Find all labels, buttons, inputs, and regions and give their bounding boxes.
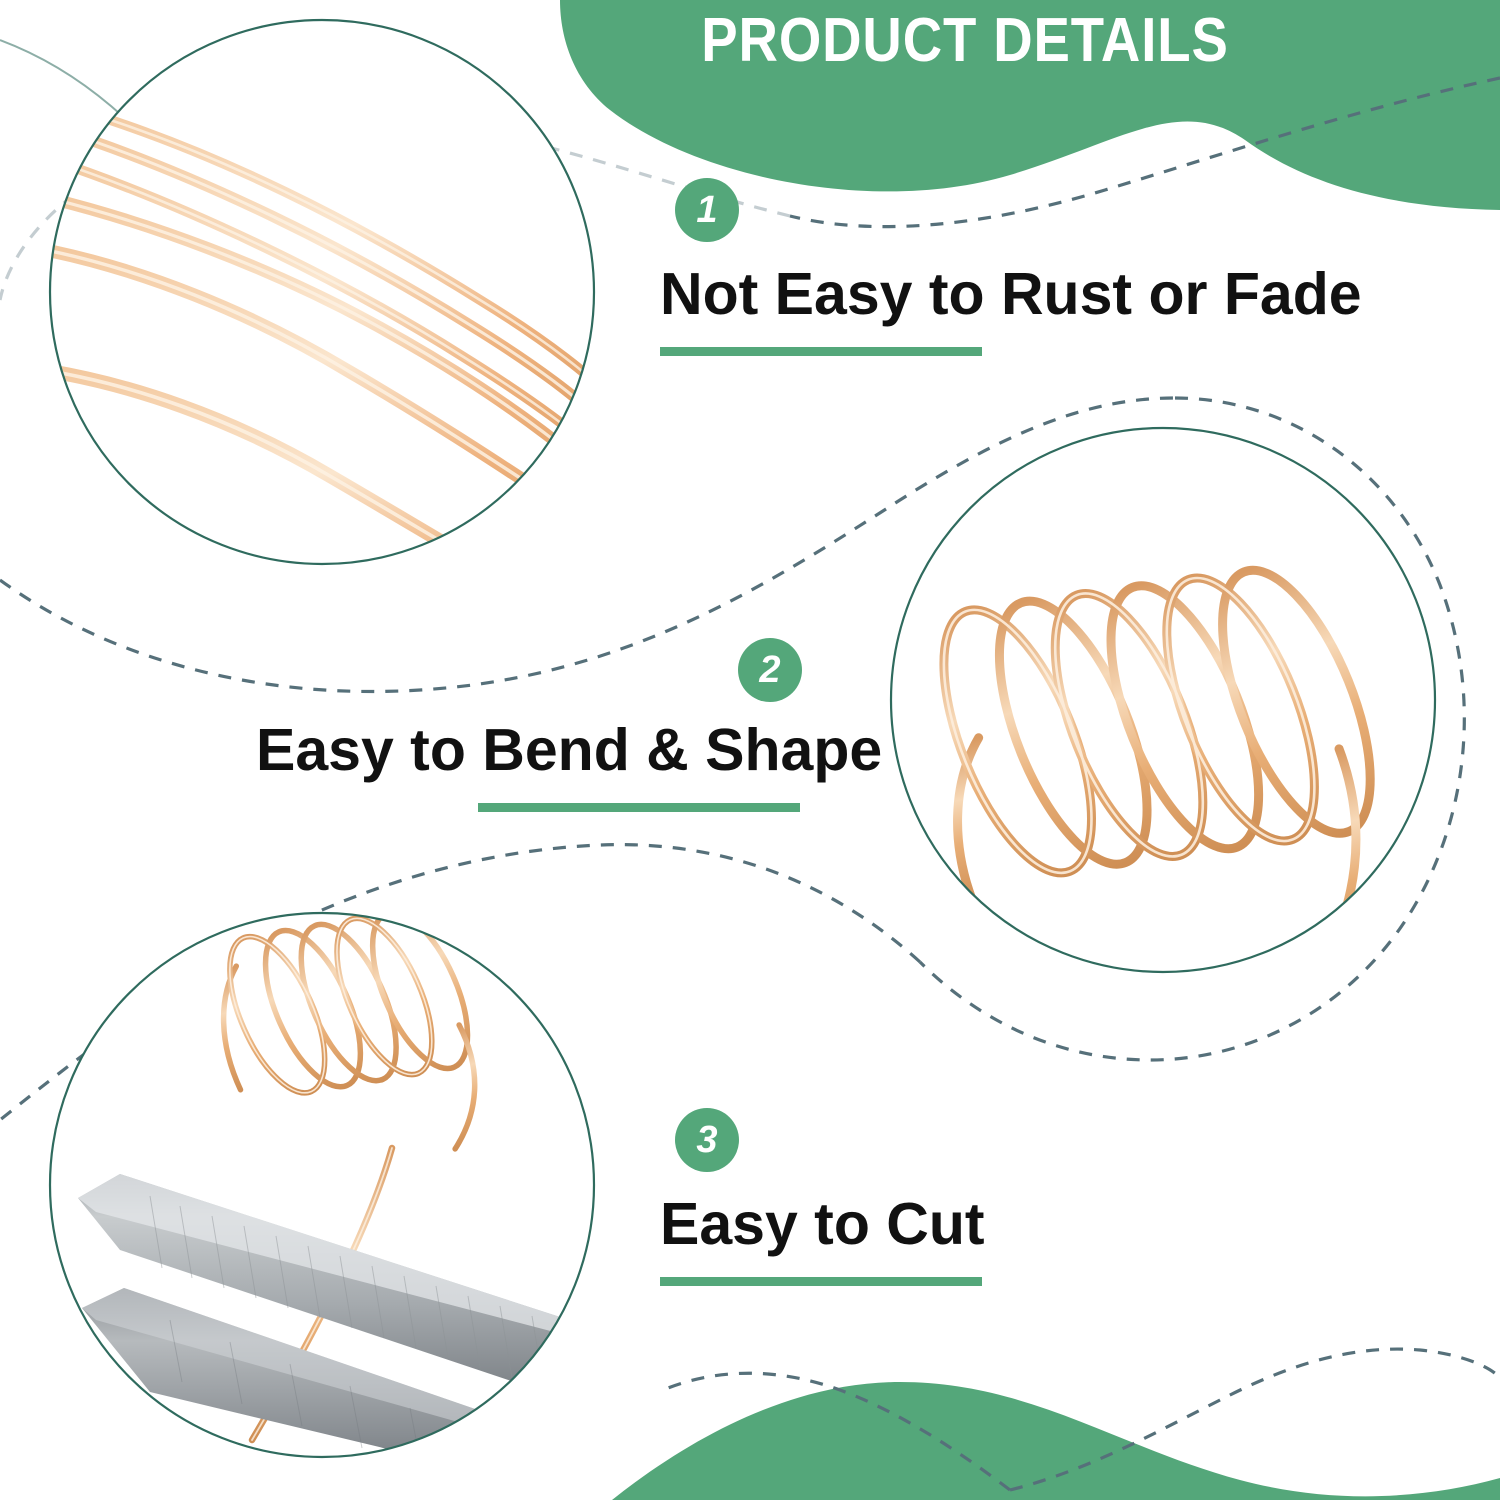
number-two-badge-icon: 2 (738, 638, 802, 702)
feature-underline-2 (478, 803, 800, 812)
feature-title-3: Easy to Cut (660, 1192, 985, 1257)
number-one-badge-icon: 1 (675, 178, 739, 242)
content-layer: PRODUCT DETAILS 1 Not Easy to Rust or Fa… (0, 0, 1500, 1500)
product-details-infographic: PRODUCT DETAILS 1 Not Easy to Rust or Fa… (0, 0, 1500, 1500)
feature-title-2: Easy to Bend & Shape (256, 718, 882, 783)
feature-underline-1 (660, 347, 982, 356)
page-title: PRODUCT DETAILS (661, 8, 1268, 73)
feature-underline-3 (660, 1277, 982, 1286)
feature-title-1: Not Easy to Rust or Fade (660, 262, 1362, 327)
number-three-badge-icon: 3 (675, 1108, 739, 1172)
